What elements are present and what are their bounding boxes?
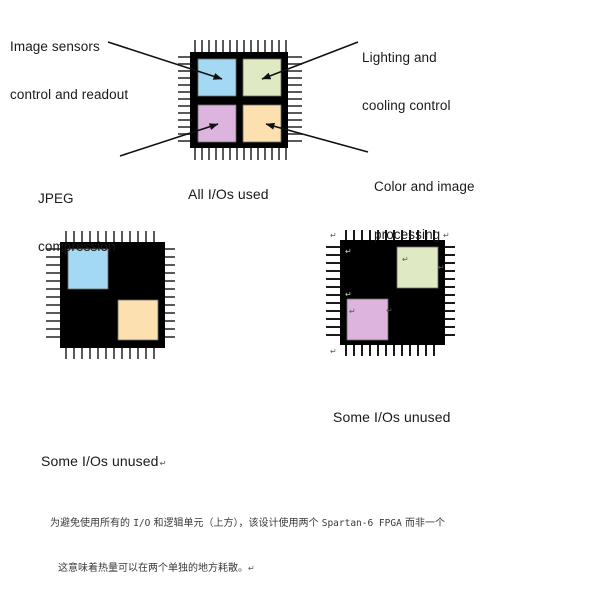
chinese-note-line1: 为避免使用所有的 I/O 和逻辑单元（上方），该设计使用两个 Spartan-6… bbox=[50, 516, 445, 531]
chip-top-pins-right bbox=[288, 57, 302, 141]
chip-bl-block-bottom-right[interactable] bbox=[118, 300, 158, 340]
pilcrow-icon-9: ↵ bbox=[443, 232, 450, 240]
chip-top-quadrant-top-right[interactable] bbox=[243, 59, 281, 96]
chip-top bbox=[178, 40, 302, 160]
annotation-color-image: Color and image processing bbox=[374, 147, 475, 275]
pilcrow-icon-6: ↵ bbox=[349, 308, 356, 316]
chip-top-pins-top bbox=[195, 40, 286, 53]
annotation-jpeg-line2: compression bbox=[38, 239, 116, 255]
pilcrow-icon-caption-left: ↵ bbox=[160, 459, 167, 468]
figure-canvas: Image sensors control and readout Lighti… bbox=[0, 0, 607, 522]
chinese-note: 为避免使用所有的 I/O 和逻辑单元（上方），该设计使用两个 Spartan-6… bbox=[50, 486, 445, 606]
pilcrow-icon-7: ↵ bbox=[386, 307, 393, 315]
pilcrow-icon-3: ↵ bbox=[402, 256, 409, 264]
pilcrow-icon-2: ↵ bbox=[345, 248, 352, 256]
caption-some-ios-unused-left-text: Some I/Os unused bbox=[41, 453, 159, 469]
chinese-note-line2-text: 这意味着热量可以在两个单独的地方耗散。 bbox=[58, 563, 248, 574]
pilcrow-icon-8: ↵ bbox=[330, 348, 337, 356]
chinese-note-line1-part3: 而非一个 bbox=[402, 518, 445, 529]
chip-top-pins-left bbox=[178, 57, 192, 141]
annotation-jpeg-line1: JPEG bbox=[38, 191, 116, 207]
chinese-note-line2: 这意味着热量可以在两个单独的地方耗散。↵ bbox=[50, 561, 445, 576]
annotation-lighting: Lighting and cooling control bbox=[362, 18, 451, 146]
annotation-lighting-line2: cooling control bbox=[362, 98, 451, 114]
chip-br-pins-left bbox=[326, 247, 341, 335]
annotation-image-sensors-line2: control and readout bbox=[10, 87, 128, 103]
chip-br-block-bottom-left[interactable] bbox=[347, 299, 388, 340]
annotation-jpeg: JPEG compression bbox=[38, 159, 116, 287]
caption-all-ios-used: All I/Os used bbox=[188, 186, 269, 203]
chinese-note-line1-mono2: Spartan-6 FPGA bbox=[322, 518, 402, 529]
chinese-note-line1-mono1: I/O bbox=[133, 518, 150, 529]
annotation-color-image-line2: processing bbox=[374, 227, 475, 243]
caption-some-ios-unused-left: Some I/Os unused↵ bbox=[41, 453, 165, 470]
chip-top-quadrant-bottom-right[interactable] bbox=[243, 105, 281, 142]
annotation-image-sensors: Image sensors control and readout bbox=[10, 7, 128, 135]
pilcrow-icon-1: ↵ bbox=[330, 232, 337, 240]
pilcrow-icon-4: ↵ bbox=[438, 264, 445, 272]
chinese-note-line1-part2: 和逻辑单元（上方），该设计使用两个 bbox=[150, 518, 321, 529]
annotation-image-sensors-line1: Image sensors bbox=[10, 39, 128, 55]
caption-some-ios-unused-right: Some I/Os unused bbox=[333, 409, 451, 426]
annotation-color-image-line1: Color and image bbox=[374, 179, 475, 195]
pilcrow-icon-chinese-note: ↵ bbox=[248, 564, 255, 573]
pilcrow-icon-5: ↵ bbox=[345, 291, 352, 299]
chinese-note-line1-part1: 为避免使用所有的 bbox=[50, 518, 133, 529]
chip-top-pins-bottom bbox=[195, 147, 286, 160]
chip-bl-pins-bottom bbox=[66, 347, 154, 359]
chip-br-pins-bottom bbox=[346, 344, 434, 356]
annotation-lighting-line1: Lighting and bbox=[362, 50, 451, 66]
